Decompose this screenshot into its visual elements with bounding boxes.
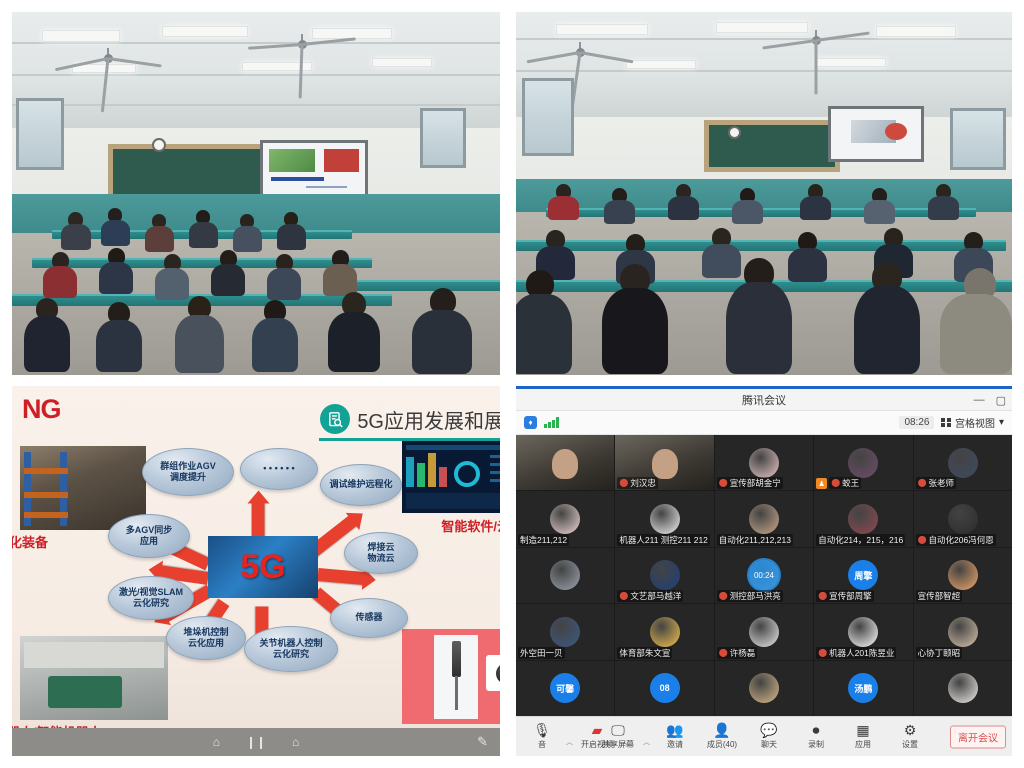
avatar — [848, 448, 878, 478]
maximize-icon[interactable]: ▢ — [996, 394, 1006, 407]
participant-name: 自动化211,212,213 — [717, 534, 793, 546]
document-search-icon — [320, 404, 350, 434]
chevron-down-icon[interactable]: ▾ — [999, 417, 1004, 428]
annotate-pen-icon[interactable]: ✎ — [477, 734, 488, 750]
invite-button[interactable]: 👥邀请 — [653, 723, 697, 750]
slide-playback-bar[interactable]: ⌂ ❙❙ ⌂ ✎ — [12, 728, 500, 756]
participant-name-label: 自动化211,212,213 — [719, 534, 791, 546]
microphone-muted-icon: ⬤ — [719, 649, 728, 657]
participant-tile[interactable]: ⬤许杨磊 — [715, 604, 813, 659]
avatar — [550, 617, 580, 647]
participant-tile[interactable] — [914, 661, 1012, 716]
presentation-slide-5g: NG 5G应用发展和展 — [12, 386, 500, 756]
microphone-muted-icon: ⬤ — [619, 479, 628, 487]
grid-view-icon — [941, 418, 951, 428]
node-welding-logistics-cloud: 焊接云 物流云 — [344, 532, 418, 574]
microphone-muted-icon: ⬤ — [719, 479, 728, 487]
microphone-muted-icon: ⬤ — [818, 649, 827, 657]
photo-smart-sensor — [402, 629, 500, 724]
participant-tile[interactable]: 自动化214，215，216 — [814, 491, 912, 546]
participant-name-label: 张老师 — [929, 477, 955, 489]
participant-tile[interactable]: 08 — [615, 661, 713, 716]
avatar — [749, 448, 779, 478]
avatar — [550, 504, 580, 534]
hub-5g: 5G — [208, 536, 318, 598]
apps-button[interactable]: ▦应用 — [841, 723, 885, 750]
prev-slide-icon[interactable]: ⌂ — [213, 735, 220, 749]
hub-5g-label: 5G — [240, 548, 285, 587]
participant-tile[interactable]: ⬤张老师 — [914, 435, 1012, 490]
participant-tile[interactable]: 可馨 — [516, 661, 614, 716]
window-title: 腾讯会议 — [742, 392, 786, 408]
gear-icon: ⚙ — [904, 723, 917, 737]
participant-tile[interactable]: 体育部朱文宣 — [615, 604, 713, 659]
participant-name: ⬤自动化206冯何恩 — [916, 534, 996, 546]
participant-name: 制造211,212 — [518, 534, 569, 546]
avatar — [650, 504, 680, 534]
record-button-label: 录制 — [808, 739, 824, 750]
view-mode-selector[interactable]: 宫格视图 ▾ — [941, 415, 1004, 430]
participant-tile[interactable]: 自动化211,212,213 — [715, 491, 813, 546]
avatar — [749, 617, 779, 647]
participant-name: 机器人211 测控211 212 — [617, 534, 710, 546]
participant-name-label: 刘汉忠 — [630, 477, 656, 489]
mic-options-caret[interactable]: ︿ — [566, 737, 573, 750]
participants-button-label: 成员(40) — [707, 739, 737, 750]
participants-button[interactable]: 👤成员(40) — [700, 723, 744, 750]
avatar — [948, 560, 978, 590]
avatar — [650, 560, 680, 590]
participant-name-label: 制造211,212 — [520, 534, 567, 546]
node-slam-cloud: 激光/视觉SLAM 云化研究 — [108, 576, 194, 620]
node-agv-scheduling: 群组作业AGV 调度提升 — [142, 448, 234, 496]
minimize-icon[interactable]: — — [974, 394, 985, 406]
tencent-meeting-window[interactable]: 腾讯会议 — ▢ ♦ 08:26 宫格视图 ▾ ⬤刘汉忠⬤宣 — [516, 386, 1012, 756]
participant-name-label: 体育部朱文宣 — [619, 647, 670, 659]
avatar — [550, 560, 580, 590]
avatar — [749, 673, 779, 703]
screen-share-icon: 🖵 — [611, 723, 625, 737]
participant-name-label: 测控部马洪亮 — [730, 590, 781, 602]
window-titlebar: 腾讯会议 — ▢ — [516, 389, 1012, 411]
avatar — [948, 673, 978, 703]
photo-lecture-hall-wide — [12, 12, 500, 375]
participant-name-label: 机器人201陈昱业 — [829, 647, 894, 659]
participant-name: ⬤许杨磊 — [717, 647, 757, 659]
caption-smart-software-cloud: 智能软件/云 — [441, 516, 500, 535]
invite-icon: 👥 — [666, 723, 683, 737]
arrow-to-welding-cloud — [317, 568, 364, 585]
avatar — [948, 617, 978, 647]
avatar — [749, 504, 779, 534]
participant-tile[interactable]: 周擎⬤宣传部周擎 — [814, 548, 912, 603]
avatar — [650, 617, 680, 647]
slide-logo: NG — [22, 394, 61, 425]
participant-tile[interactable]: ⬤文艺部马越洋 — [615, 548, 713, 603]
leave-meeting-button[interactable]: 离开会议 — [950, 725, 1006, 748]
invite-button-label: 邀请 — [667, 739, 683, 750]
participant-tile[interactable] — [715, 661, 813, 716]
microphone-muted-icon: ⬤ — [918, 479, 927, 487]
participant-tile[interactable]: 机器人211 测控211 212 — [615, 491, 713, 546]
participant-grid: ⬤刘汉忠⬤宣传部胡金宁♟⬤蛟王⬤张老师制造211,212机器人211 测控211… — [516, 435, 1012, 716]
apps-icon: ▦ — [856, 723, 869, 737]
avatar — [948, 448, 978, 478]
photo-dashboard-screen — [402, 441, 500, 513]
photo-collage: NG 5G应用发展和展 — [0, 0, 1024, 768]
apps-button-label: 应用 — [855, 739, 871, 750]
avatar: 汤鹏 — [848, 673, 878, 703]
avatar: 08 — [650, 673, 680, 703]
share-options-caret[interactable]: ︿ — [643, 737, 650, 750]
node-remote-maintenance: 调试维护远程化 — [320, 464, 402, 506]
chat-button[interactable]: 💬聊天 — [747, 723, 791, 750]
participant-tile[interactable]: ⬤宣传部胡金宁 — [715, 435, 813, 490]
participant-name-label: 外空田一贝 — [520, 647, 563, 659]
share-screen-button[interactable]: 🖵共享屏幕 — [596, 723, 640, 750]
participant-name-label: 许杨磊 — [730, 647, 756, 659]
participants-icon: 👤 — [713, 723, 730, 737]
participant-name: ⬤机器人201陈昱业 — [816, 647, 896, 659]
microphone-muted-icon: ⬤ — [719, 592, 728, 600]
participant-name: ⬤刘汉忠 — [617, 477, 657, 489]
video-face — [552, 449, 578, 479]
meeting-toolbar[interactable]: 🎙 音 ︿ ▰ 开启视频 ︿ 🖵共享屏幕︿👥邀请👤成员(40)💬聊天⏺录制▦应用… — [516, 716, 1012, 756]
participant-tile[interactable]: 宣传部智超 — [914, 548, 1012, 603]
settings-button[interactable]: ⚙设置 — [888, 723, 932, 750]
participant-tile[interactable]: 制造211,212 — [516, 491, 614, 546]
participant-name-label: 宣传部胡金宁 — [730, 477, 781, 489]
microphone-muted-icon: ⬤ — [619, 592, 628, 600]
participant-name-label: 自动化206冯何恩 — [929, 534, 994, 546]
caption-automation-equipment: 力化装备 — [12, 532, 48, 551]
participant-tile[interactable]: ♟⬤蛟王 — [814, 435, 912, 490]
participant-tile[interactable] — [516, 548, 614, 603]
meeting-clock: 08:26 — [899, 416, 934, 429]
participant-name-label: 蛟王 — [842, 477, 859, 489]
participant-name: 体育部朱文宣 — [617, 647, 672, 659]
participant-name: 宣传部智超 — [916, 590, 963, 602]
participant-name-label: 宣传部智超 — [918, 590, 961, 602]
participant-name: ⬤张老师 — [916, 477, 956, 489]
participant-name-label: 自动化214，215，216 — [818, 534, 903, 546]
participant-name: ⬤宣传部周擎 — [816, 590, 873, 602]
participant-name: ⬤蛟王 — [829, 477, 861, 489]
settings-button-label: 设置 — [902, 739, 918, 750]
participant-tile[interactable] — [516, 435, 614, 490]
avatar: 周擎 — [848, 560, 878, 590]
view-mode-label: 宫格视图 — [955, 415, 995, 430]
signal-strength-icon[interactable] — [544, 417, 559, 428]
chat-icon: 💬 — [760, 723, 777, 737]
microphone-muted-icon: ⬤ — [818, 592, 827, 600]
participant-name: ⬤测控部马洪亮 — [717, 590, 783, 602]
participant-tile[interactable]: 外空田一贝 — [516, 604, 614, 659]
microphone-icon: 🎙 — [533, 723, 551, 737]
microphone-muted-icon: ⬤ — [831, 479, 840, 487]
photo-agv-robot-exhibit — [20, 636, 168, 720]
participant-tile[interactable]: 汤鹏 — [814, 661, 912, 716]
slide-title: 5G应用发展和展 — [357, 405, 500, 434]
projection-screen — [828, 106, 924, 162]
speaking-timer: 00:24 — [747, 558, 781, 592]
share-screen-button-label: 共享屏幕 — [602, 739, 634, 750]
participant-name: ⬤宣传部胡金宁 — [717, 477, 783, 489]
participant-name: 外空田一贝 — [518, 647, 565, 659]
participant-tile[interactable]: ⬤机器人201陈昱业 — [814, 604, 912, 659]
participant-name-label: 心协丁颐昭 — [918, 647, 961, 659]
participant-tile[interactable]: ⬤刘汉忠 — [615, 435, 713, 490]
next-slide-icon[interactable]: ⌂ — [292, 735, 299, 749]
node-top-dots: • • • • • • — [240, 448, 318, 490]
participant-name-label: 文艺部马越洋 — [630, 590, 681, 602]
participant-name-label: 机器人211 测控211 212 — [619, 534, 708, 546]
participant-name: ⬤文艺部马越洋 — [617, 590, 683, 602]
slide-title-group: 5G应用发展和展 — [320, 404, 500, 434]
mute-button[interactable]: 🎙 音 — [520, 723, 564, 750]
microphone-muted-icon: ⬤ — [918, 536, 927, 544]
record-icon: ⏺ — [813, 723, 820, 737]
avatar — [848, 617, 878, 647]
avatar — [848, 504, 878, 534]
video-face — [652, 449, 678, 479]
host-badge: ♟ — [816, 478, 827, 489]
participant-name: 心协丁颐昭 — [916, 647, 963, 659]
participant-tile[interactable]: 心协丁颐昭 — [914, 604, 1012, 659]
node-stacker-control: 堆垛机控制 云化应用 — [166, 616, 246, 660]
meeting-statusbar: ♦ 08:26 宫格视图 ▾ — [516, 411, 1012, 435]
participant-tile[interactable]: 00:24⬤测控部马洪亮 — [715, 548, 813, 603]
chat-button-label: 聊天 — [761, 739, 777, 750]
pause-icon[interactable]: ❙❙ — [246, 735, 266, 749]
avatar — [948, 504, 978, 534]
participant-name: 自动化214，215，216 — [816, 534, 905, 546]
record-button[interactable]: ⏺录制 — [794, 723, 838, 750]
participant-tile[interactable]: ⬤自动化206冯何恩 — [914, 491, 1012, 546]
node-multi-agv-sync: 多AGV同步 应用 — [108, 514, 190, 558]
avatar: 可馨 — [550, 673, 580, 703]
photo-lecture-hall-audience — [516, 12, 1012, 375]
node-joint-robot-control: 关节机器人控制 云化研究 — [244, 626, 338, 672]
shield-icon[interactable]: ♦ — [524, 416, 537, 429]
participant-name-label: 宣传部周擎 — [829, 590, 872, 602]
node-sensor: 传感器 — [330, 598, 408, 638]
